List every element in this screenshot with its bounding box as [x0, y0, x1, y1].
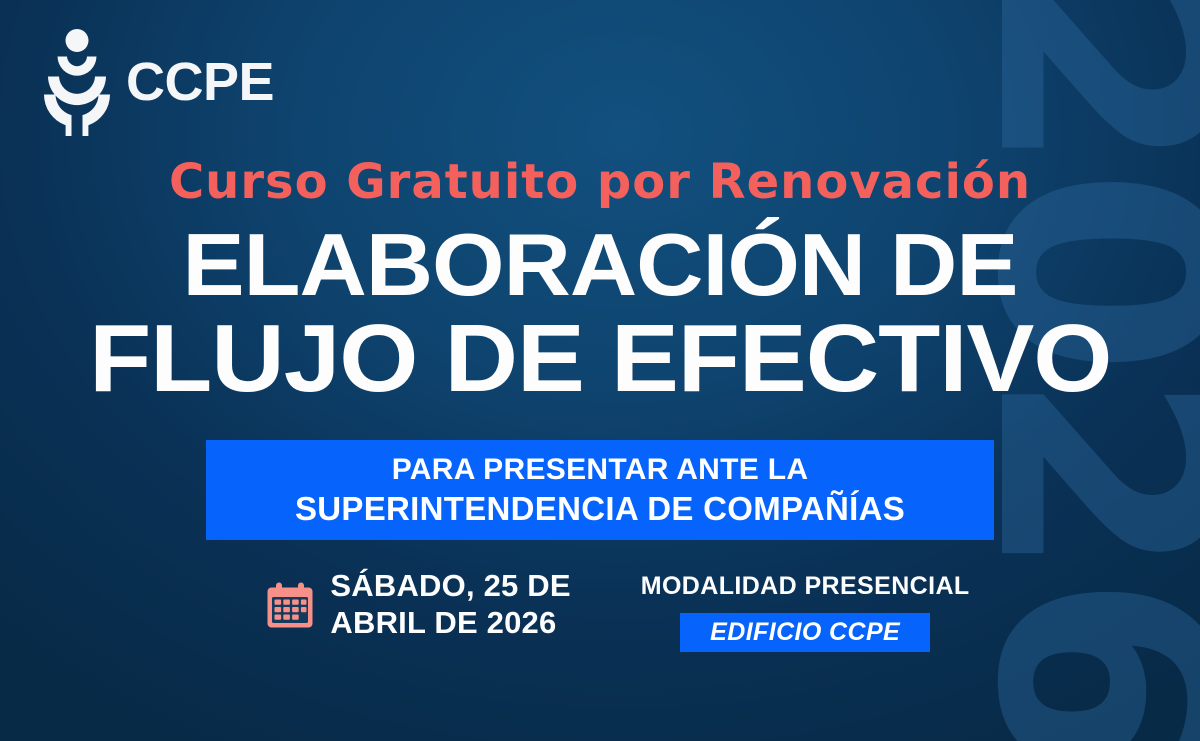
event-info-row: SÁBADO, 25 DE ABRIL DE 2026 MODALIDAD PR…: [0, 568, 1200, 652]
brand-logo: CCPE: [44, 28, 274, 136]
eyebrow-text: Curso Gratuito por Renovación: [169, 158, 1031, 206]
subtitle-line-2: SUPERINTENDENCIA DE COMPAÑÍAS: [295, 488, 905, 530]
headline-line-2: FLUJO DE EFECTIVO: [89, 312, 1111, 406]
promo-poster: 2026 CCPE Curso Gratuito por Renovación …: [0, 0, 1200, 741]
headline-line-1: ELABORACIÓN DE: [182, 222, 1017, 308]
event-date-block: SÁBADO, 25 DE ABRIL DE 2026: [266, 568, 570, 641]
event-date-text: SÁBADO, 25 DE ABRIL DE 2026: [330, 568, 570, 641]
calendar-icon: [266, 581, 314, 629]
plant-sprout-icon: [44, 28, 110, 136]
brand-name: CCPE: [126, 55, 274, 109]
modality-label: MODALIDAD PRESENCIAL: [641, 572, 970, 601]
event-modality-block: MODALIDAD PRESENCIAL EDIFICIO CCPE: [641, 568, 970, 652]
venue-badge: EDIFICIO CCPE: [680, 613, 930, 652]
subtitle-banner: PARA PRESENTAR ANTE LA SUPERINTENDENCIA …: [206, 440, 994, 540]
subtitle-line-1: PARA PRESENTAR ANTE LA: [392, 451, 809, 489]
